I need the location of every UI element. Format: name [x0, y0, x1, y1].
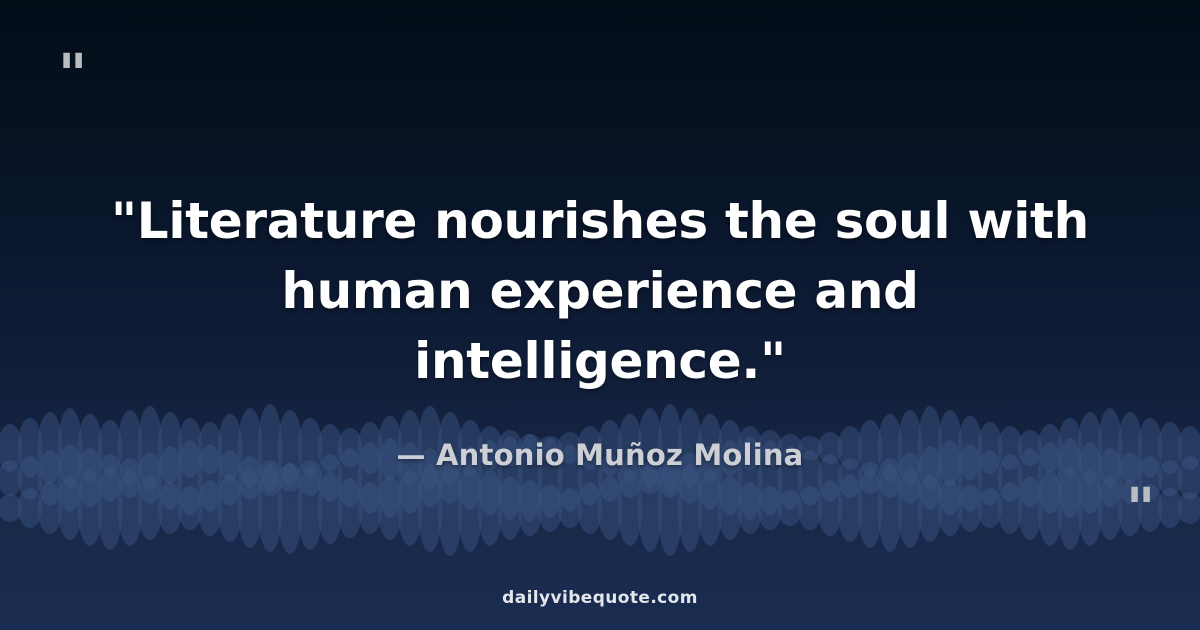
quote-text: "Literature nourishes the soul with huma…	[95, 186, 1105, 396]
site-watermark: dailyvibequote.com	[0, 588, 1200, 608]
quote-line-2: human experience and intelligence."	[281, 262, 918, 390]
quote-card: " " "Literature nourishes the soul with …	[0, 0, 1200, 630]
card-content: "Literature nourishes the soul with huma…	[0, 0, 1200, 630]
quote-attribution: — Antonio Muñoz Molina	[397, 438, 804, 472]
quote-line-1: "Literature nourishes the soul with	[111, 192, 1089, 250]
